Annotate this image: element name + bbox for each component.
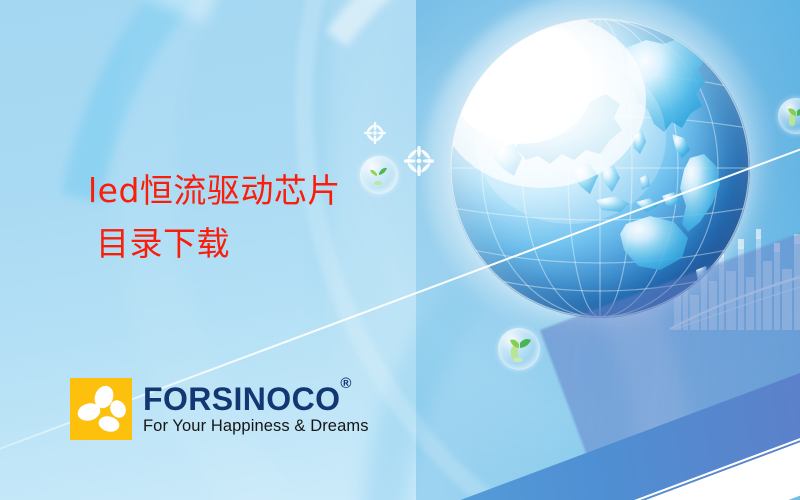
brand-tagline: For Your Happiness & Dreams <box>143 418 369 435</box>
brand-name: FORSINOCO® <box>143 383 369 415</box>
eco-bubble-green-sprout <box>360 156 398 194</box>
white-flower-sparkle-icon <box>404 146 434 176</box>
green-sprout-icon <box>498 328 540 370</box>
green-sprout-icon <box>360 156 398 194</box>
banner-image: led恒流驱动芯片 目录下载 FORSINOCO® For Your Happi… <box>0 0 800 500</box>
headline-line-1: led恒流驱动芯片 <box>88 171 341 210</box>
registered-trademark-symbol: ® <box>340 375 351 392</box>
forsinoco-flower-mark-icon <box>70 378 132 440</box>
green-sprout-icon <box>778 98 800 134</box>
headline-line-2: 目录下载 <box>88 217 341 270</box>
white-flower-sparkle-icon <box>364 122 386 144</box>
banner-headline: led恒流驱动芯片 目录下载 <box>88 164 341 271</box>
brand-name-text: FORSINOCO <box>143 381 340 417</box>
logo-wordmark: FORSINOCO® For Your Happiness & Dreams <box>143 383 369 435</box>
company-logo: FORSINOCO® For Your Happiness & Dreams <box>70 378 369 440</box>
eco-bubble-green-sprout <box>778 98 800 134</box>
eco-bubble-green-sprout <box>498 328 540 370</box>
